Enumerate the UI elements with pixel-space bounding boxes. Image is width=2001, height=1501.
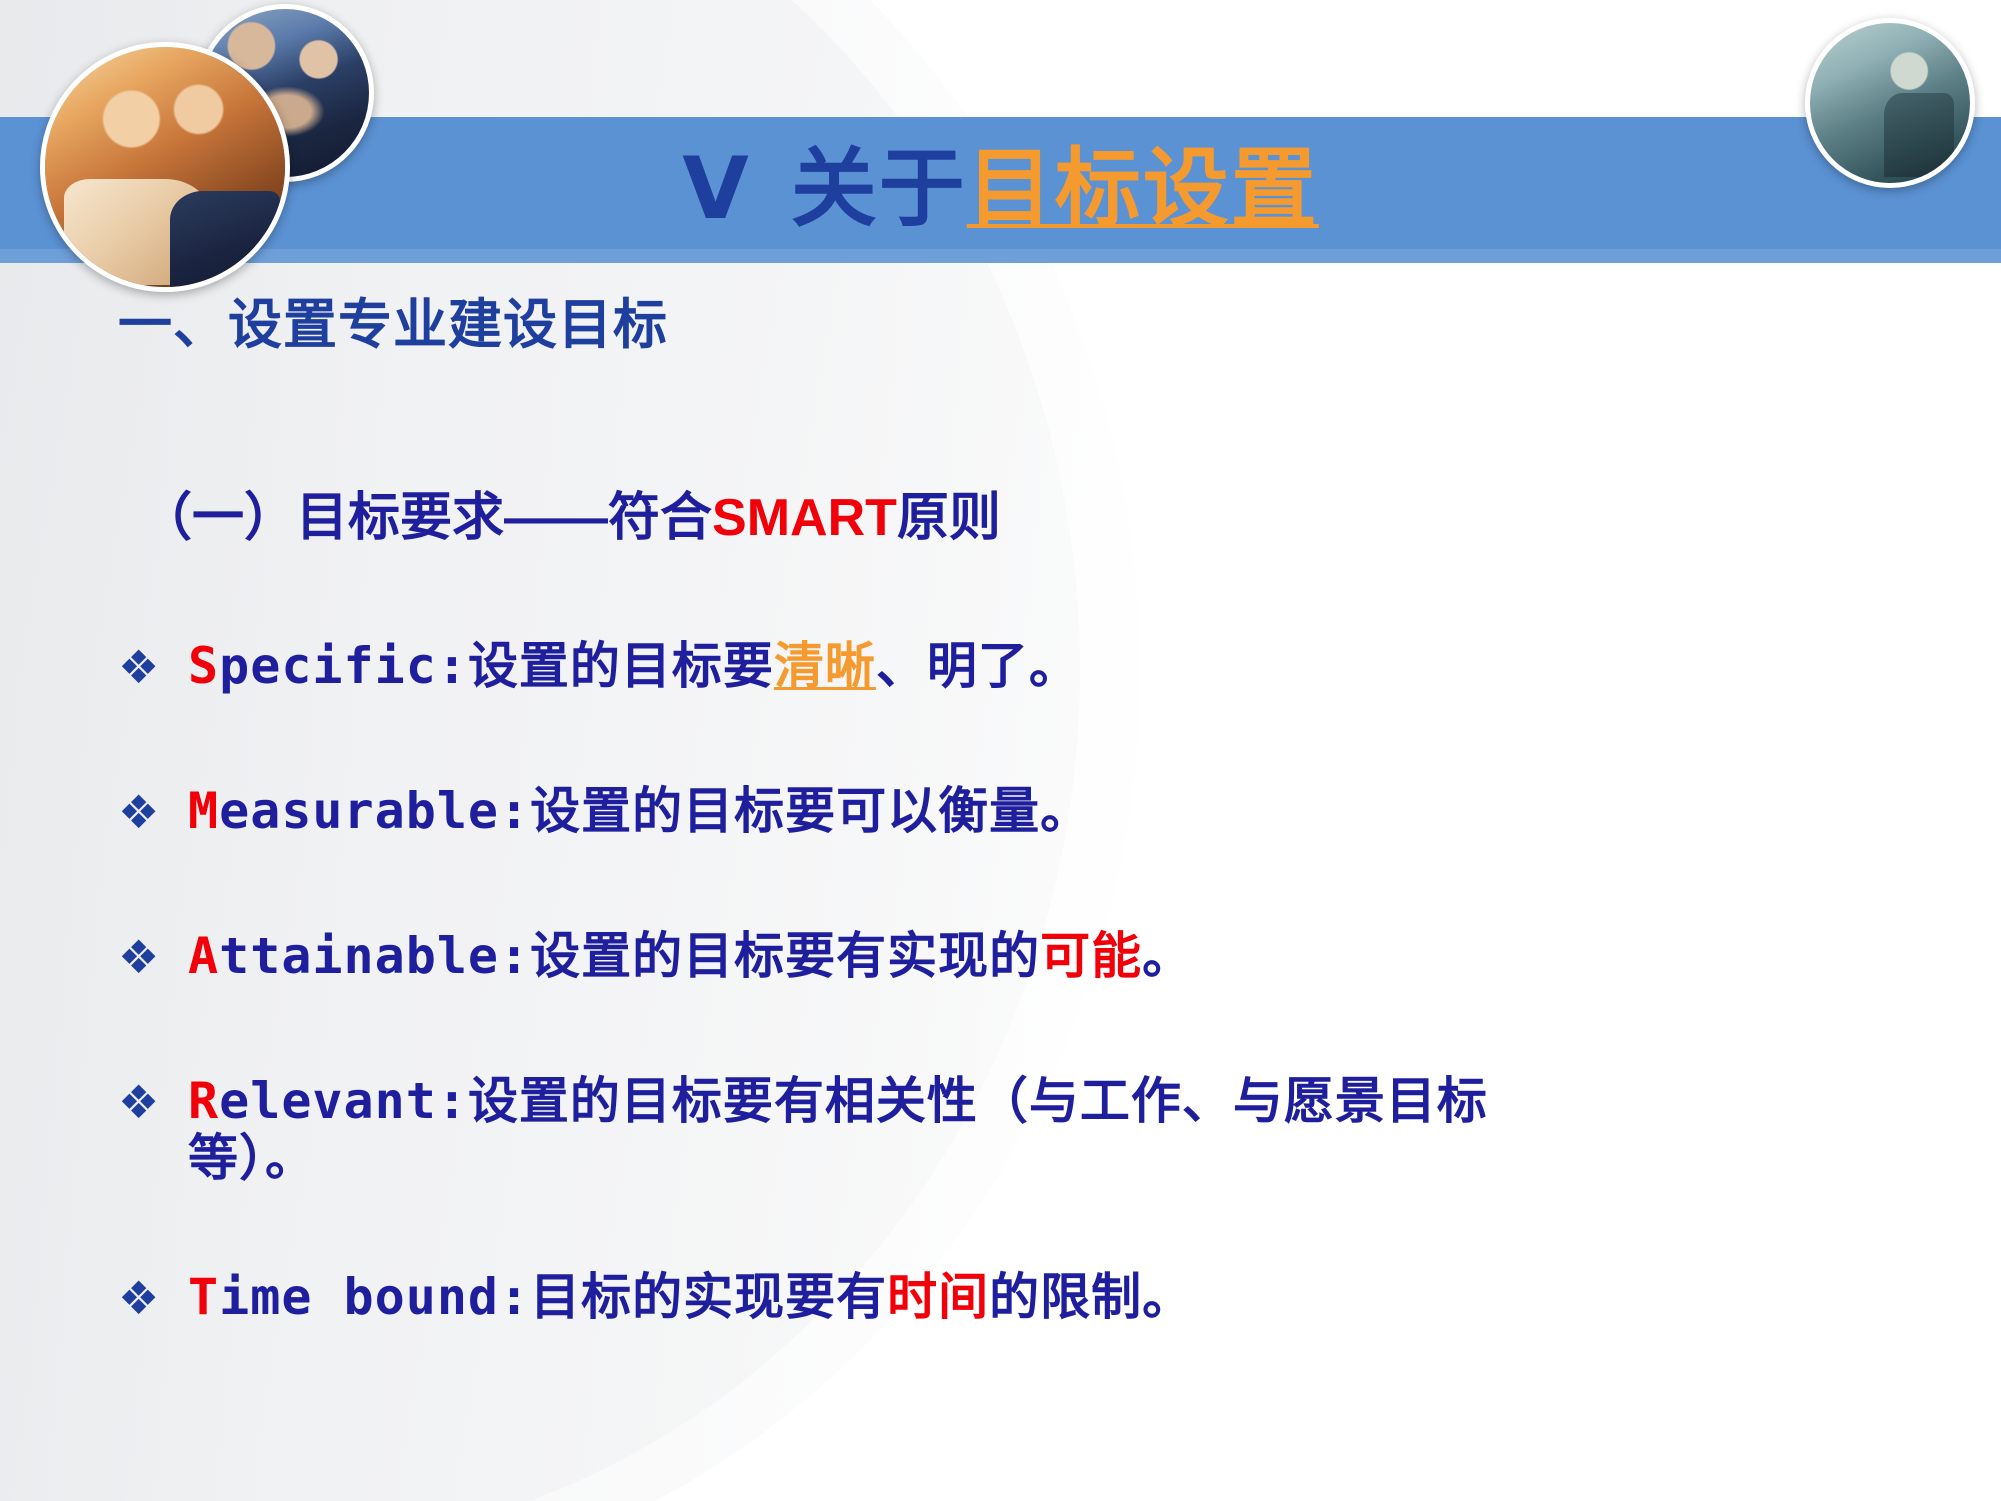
subsection-accent-smart: SMART <box>712 489 897 547</box>
slide-content: 一、设置专业建设目标 （一）目标要求——符合SMART原则 ❖ Specific… <box>0 0 2001 1501</box>
bullet-chinese-relevant-line2: 等）。 <box>188 1132 1958 1185</box>
bullet-english-rest-specific: pecific: <box>219 637 468 695</box>
bullet-chinese-before-attainable: 设置的目标要有实现的 <box>530 928 1040 984</box>
section-heading: 一、设置专业建设目标 <box>118 298 668 352</box>
bullet-capital-a: A <box>188 927 219 985</box>
bullet-english-attainable: Attainable: <box>188 927 530 985</box>
bullet-chinese-after-specific: 、明了。 <box>876 638 1080 694</box>
bullet-english-rest-time-bound: ime bound: <box>219 1268 530 1326</box>
diamond-bullet-icon: ❖ <box>118 1079 159 1125</box>
bullet-item-relevant: ❖ Relevant:设置的目标要有相关性（与工作、与愿景目标等）。 <box>118 1075 1958 1185</box>
bullet-chinese-after-attainable: 。 <box>1142 928 1193 984</box>
bullet-capital-m: M <box>188 782 219 840</box>
bullet-capital-r: R <box>188 1072 219 1130</box>
bullet-english-relevant: Relevant: <box>188 1072 468 1130</box>
bullet-chinese-before-specific: 设置的目标要 <box>468 638 774 694</box>
diamond-bullet-icon: ❖ <box>118 644 159 690</box>
subsection-heading: （一）目标要求——符合SMART原则 <box>140 492 1001 544</box>
diamond-bullet-icon: ❖ <box>118 1275 159 1321</box>
decorative-photo-presenter <box>1805 18 1975 188</box>
bullet-english-rest-relevant: elevant: <box>219 1072 468 1130</box>
bullet-item-specific: ❖ Specific:设置的目标要清晰、明了。 <box>118 640 1958 693</box>
bullet-english-rest-measurable: easurable: <box>219 782 530 840</box>
bullet-english-rest-attainable: ttainable: <box>219 927 530 985</box>
bullet-list: ❖ Specific:设置的目标要清晰、明了。 ❖ Measurable:设置的… <box>118 640 1958 1324</box>
photo-image-laptop <box>45 47 285 287</box>
bullet-chinese-relevant-line1: 设置的目标要有相关性（与工作、与愿景目标 <box>468 1073 1488 1129</box>
bullet-chinese-after-time-bound: 的限制。 <box>989 1269 1193 1325</box>
decorative-photo-laptop <box>40 42 290 292</box>
bullet-english-time-bound: Time bound: <box>188 1268 530 1326</box>
bullet-english-measurable: Measurable: <box>188 782 530 840</box>
bullet-capital-t: T <box>188 1268 219 1326</box>
bullet-chinese-measurable: 设置的目标要可以衡量。 <box>530 783 1091 839</box>
bullet-english-specific: Specific: <box>188 637 468 695</box>
bullet-chinese-before-time-bound: 目标的实现要有 <box>530 1269 887 1325</box>
bullet-chinese-accent-specific: 清晰 <box>774 638 876 694</box>
bullet-chinese-accent-time-bound: 时间 <box>887 1269 989 1325</box>
subsection-text-after: 原则 <box>897 489 1001 547</box>
bullet-capital-s: S <box>188 637 219 695</box>
subsection-text-before: （一）目标要求——符合 <box>140 489 712 547</box>
diamond-bullet-icon: ❖ <box>118 789 159 835</box>
bullet-item-time-bound: ❖ Time bound:目标的实现要有时间的限制。 <box>118 1271 1958 1324</box>
presentation-slide: Ⅴ 关于 目标设置 一、设置专业建设目标 （一）目标要求——符合SMART原则 … <box>0 0 2001 1501</box>
bullet-chinese-accent-attainable: 可能 <box>1040 928 1142 984</box>
diamond-bullet-icon: ❖ <box>118 934 159 980</box>
photo-image-presenter <box>1810 23 1970 183</box>
bullet-item-measurable: ❖ Measurable:设置的目标要可以衡量。 <box>118 785 1958 838</box>
bullet-item-attainable: ❖ Attainable:设置的目标要有实现的可能。 <box>118 930 1958 983</box>
